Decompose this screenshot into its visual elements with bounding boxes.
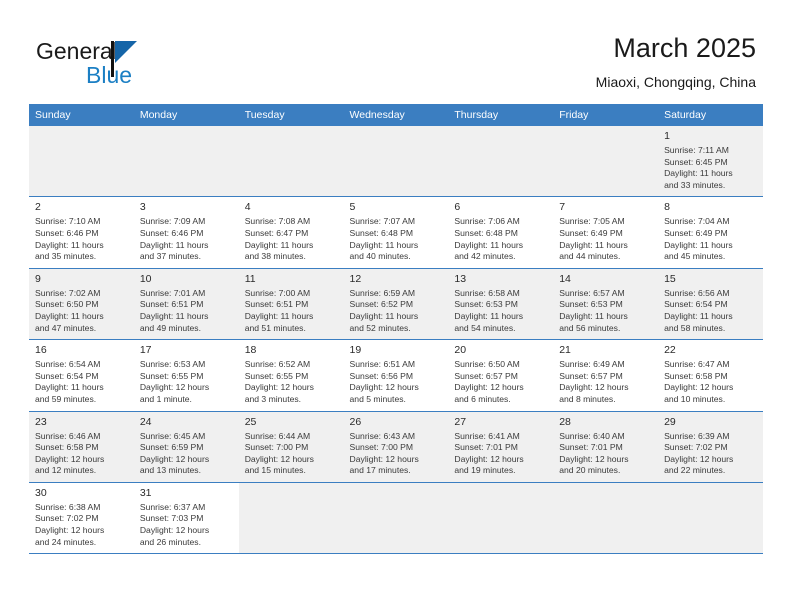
day-number: 5: [350, 201, 444, 214]
weekday-header-saturday: Saturday: [658, 104, 763, 126]
calendar-week-row: 16Sunrise: 6:54 AMSunset: 6:54 PMDayligh…: [29, 340, 763, 411]
calendar-day-cell[interactable]: 21Sunrise: 6:49 AMSunset: 6:57 PMDayligh…: [553, 340, 658, 411]
day-number: 29: [664, 416, 758, 429]
calendar-cell-empty: [448, 482, 553, 553]
day-daylight1-text: Daylight: 11 hours: [664, 240, 758, 252]
calendar-grid: Sunday Monday Tuesday Wednesday Thursday…: [29, 104, 763, 554]
day-daylight2-text: and 33 minutes.: [664, 180, 758, 192]
day-daylight1-text: Daylight: 11 hours: [35, 382, 129, 394]
day-number: 24: [140, 416, 234, 429]
day-daylight1-text: Daylight: 11 hours: [35, 311, 129, 323]
day-sunset-text: Sunset: 6:55 PM: [245, 371, 339, 383]
day-sunset-text: Sunset: 6:50 PM: [35, 299, 129, 311]
day-sunrise-text: Sunrise: 7:06 AM: [454, 216, 548, 228]
day-daylight1-text: Daylight: 12 hours: [140, 454, 234, 466]
weekday-header-monday: Monday: [134, 104, 239, 126]
day-sunset-text: Sunset: 6:48 PM: [454, 228, 548, 240]
day-sunrise-text: Sunrise: 7:08 AM: [245, 216, 339, 228]
day-daylight2-text: and 59 minutes.: [35, 394, 129, 406]
day-daylight1-text: Daylight: 11 hours: [559, 240, 653, 252]
day-daylight1-text: Daylight: 12 hours: [350, 454, 444, 466]
weekday-header-thursday: Thursday: [448, 104, 553, 126]
flag-triangle-icon: [111, 41, 137, 64]
day-sunrise-text: Sunrise: 6:49 AM: [559, 359, 653, 371]
day-sunrise-text: Sunrise: 6:47 AM: [664, 359, 758, 371]
day-daylight1-text: Daylight: 11 hours: [140, 311, 234, 323]
day-number: 6: [454, 201, 548, 214]
day-sunrise-text: Sunrise: 6:38 AM: [35, 502, 129, 514]
day-daylight2-text: and 6 minutes.: [454, 394, 548, 406]
day-sunrise-text: Sunrise: 7:05 AM: [559, 216, 653, 228]
day-sunrise-text: Sunrise: 6:52 AM: [245, 359, 339, 371]
calendar-week-row: 2Sunrise: 7:10 AMSunset: 6:46 PMDaylight…: [29, 197, 763, 268]
weekday-header-row: Sunday Monday Tuesday Wednesday Thursday…: [29, 104, 763, 126]
day-sunset-text: Sunset: 6:46 PM: [140, 228, 234, 240]
day-daylight2-text: and 47 minutes.: [35, 323, 129, 335]
day-number: 30: [35, 487, 129, 500]
day-sunset-text: Sunset: 6:51 PM: [245, 299, 339, 311]
day-sunset-text: Sunset: 6:51 PM: [140, 299, 234, 311]
calendar-day-cell[interactable]: 23Sunrise: 6:46 AMSunset: 6:58 PMDayligh…: [29, 411, 134, 482]
calendar-body: 1Sunrise: 7:11 AMSunset: 6:45 PMDaylight…: [29, 126, 763, 554]
day-sunrise-text: Sunrise: 6:40 AM: [559, 431, 653, 443]
day-sunset-text: Sunset: 6:49 PM: [664, 228, 758, 240]
day-sunset-text: Sunset: 6:47 PM: [245, 228, 339, 240]
calendar-cell-empty: [239, 126, 344, 197]
calendar-day-cell[interactable]: 12Sunrise: 6:59 AMSunset: 6:52 PMDayligh…: [344, 268, 449, 339]
day-daylight2-text: and 52 minutes.: [350, 323, 444, 335]
day-daylight2-text: and 49 minutes.: [140, 323, 234, 335]
page-header: General Blue March 2025 Miaoxi, Chongqin…: [0, 0, 792, 104]
day-sunrise-text: Sunrise: 7:09 AM: [140, 216, 234, 228]
day-number: 22: [664, 344, 758, 357]
day-daylight1-text: Daylight: 12 hours: [454, 382, 548, 394]
day-daylight2-text: and 42 minutes.: [454, 251, 548, 263]
day-sunrise-text: Sunrise: 7:01 AM: [140, 288, 234, 300]
day-number: 9: [35, 273, 129, 286]
day-sunrise-text: Sunrise: 6:53 AM: [140, 359, 234, 371]
day-number: 10: [140, 273, 234, 286]
calendar-cell-empty: [134, 126, 239, 197]
day-daylight1-text: Daylight: 12 hours: [245, 382, 339, 394]
calendar-day-cell[interactable]: 1Sunrise: 7:11 AMSunset: 6:45 PMDaylight…: [658, 126, 763, 197]
day-number: 2: [35, 201, 129, 214]
calendar-day-cell[interactable]: 4Sunrise: 7:08 AMSunset: 6:47 PMDaylight…: [239, 197, 344, 268]
day-daylight2-text: and 1 minute.: [140, 394, 234, 406]
day-sunrise-text: Sunrise: 6:54 AM: [35, 359, 129, 371]
day-daylight2-text: and 54 minutes.: [454, 323, 548, 335]
day-number: 18: [245, 344, 339, 357]
day-number: 20: [454, 344, 548, 357]
day-sunset-text: Sunset: 6:58 PM: [35, 442, 129, 454]
weekday-header-tuesday: Tuesday: [239, 104, 344, 126]
day-daylight2-text: and 22 minutes.: [664, 465, 758, 477]
day-sunset-text: Sunset: 6:53 PM: [454, 299, 548, 311]
day-daylight1-text: Daylight: 11 hours: [454, 240, 548, 252]
day-sunrise-text: Sunrise: 6:58 AM: [454, 288, 548, 300]
day-sunrise-text: Sunrise: 6:57 AM: [559, 288, 653, 300]
day-sunset-text: Sunset: 7:00 PM: [245, 442, 339, 454]
calendar-cell-empty: [553, 126, 658, 197]
day-sunrise-text: Sunrise: 6:44 AM: [245, 431, 339, 443]
day-number: 25: [245, 416, 339, 429]
day-daylight2-text: and 15 minutes.: [245, 465, 339, 477]
day-sunset-text: Sunset: 6:53 PM: [559, 299, 653, 311]
day-daylight1-text: Daylight: 11 hours: [664, 311, 758, 323]
general-blue-logo[interactable]: General Blue: [36, 38, 226, 90]
calendar-day-cell[interactable]: 24Sunrise: 6:45 AMSunset: 6:59 PMDayligh…: [134, 411, 239, 482]
day-daylight2-text: and 24 minutes.: [35, 537, 129, 549]
day-daylight1-text: Daylight: 12 hours: [664, 382, 758, 394]
day-daylight2-text: and 5 minutes.: [350, 394, 444, 406]
day-sunrise-text: Sunrise: 7:02 AM: [35, 288, 129, 300]
day-daylight1-text: Daylight: 12 hours: [140, 382, 234, 394]
day-number: 17: [140, 344, 234, 357]
calendar-week-row: 23Sunrise: 6:46 AMSunset: 6:58 PMDayligh…: [29, 411, 763, 482]
day-sunrise-text: Sunrise: 6:51 AM: [350, 359, 444, 371]
calendar-day-cell[interactable]: 26Sunrise: 6:43 AMSunset: 7:00 PMDayligh…: [344, 411, 449, 482]
logo-text-blue: Blue: [86, 62, 132, 89]
page-title: March 2025: [596, 32, 756, 64]
day-daylight1-text: Daylight: 12 hours: [140, 525, 234, 537]
day-sunset-text: Sunset: 7:02 PM: [35, 513, 129, 525]
day-sunrise-text: Sunrise: 6:41 AM: [454, 431, 548, 443]
day-number: 11: [245, 273, 339, 286]
day-number: 23: [35, 416, 129, 429]
day-sunrise-text: Sunrise: 6:59 AM: [350, 288, 444, 300]
logo-text-general: General: [36, 38, 118, 65]
day-daylight2-text: and 17 minutes.: [350, 465, 444, 477]
day-sunset-text: Sunset: 6:56 PM: [350, 371, 444, 383]
day-number: 16: [35, 344, 129, 357]
calendar-day-cell[interactable]: 30Sunrise: 6:38 AMSunset: 7:02 PMDayligh…: [29, 482, 134, 553]
day-daylight1-text: Daylight: 11 hours: [35, 240, 129, 252]
day-sunrise-text: Sunrise: 7:07 AM: [350, 216, 444, 228]
calendar-day-cell[interactable]: 31Sunrise: 6:37 AMSunset: 7:03 PMDayligh…: [134, 482, 239, 553]
calendar-cell-empty: [29, 126, 134, 197]
calendar-day-cell[interactable]: 11Sunrise: 7:00 AMSunset: 6:51 PMDayligh…: [239, 268, 344, 339]
day-daylight1-text: Daylight: 12 hours: [35, 454, 129, 466]
calendar-cell-empty: [239, 482, 344, 553]
day-sunset-text: Sunset: 6:57 PM: [454, 371, 548, 383]
weekday-header-friday: Friday: [553, 104, 658, 126]
day-daylight2-text: and 40 minutes.: [350, 251, 444, 263]
day-number: 19: [350, 344, 444, 357]
calendar-day-cell[interactable]: 8Sunrise: 7:04 AMSunset: 6:49 PMDaylight…: [658, 197, 763, 268]
day-number: 28: [559, 416, 653, 429]
day-sunset-text: Sunset: 6:58 PM: [664, 371, 758, 383]
day-sunrise-text: Sunrise: 6:45 AM: [140, 431, 234, 443]
day-sunset-text: Sunset: 6:54 PM: [664, 299, 758, 311]
day-daylight1-text: Daylight: 12 hours: [664, 454, 758, 466]
calendar-day-cell[interactable]: 16Sunrise: 6:54 AMSunset: 6:54 PMDayligh…: [29, 340, 134, 411]
day-number: 1: [664, 130, 758, 143]
day-daylight2-text: and 20 minutes.: [559, 465, 653, 477]
calendar-day-cell[interactable]: 9Sunrise: 7:02 AMSunset: 6:50 PMDaylight…: [29, 268, 134, 339]
calendar-day-cell[interactable]: 10Sunrise: 7:01 AMSunset: 6:51 PMDayligh…: [134, 268, 239, 339]
calendar-day-cell[interactable]: 7Sunrise: 7:05 AMSunset: 6:49 PMDaylight…: [553, 197, 658, 268]
day-number: 21: [559, 344, 653, 357]
calendar-day-cell[interactable]: 15Sunrise: 6:56 AMSunset: 6:54 PMDayligh…: [658, 268, 763, 339]
day-daylight2-text: and 19 minutes.: [454, 465, 548, 477]
location-subtitle: Miaoxi, Chongqing, China: [596, 72, 756, 92]
calendar-cell-empty: [448, 126, 553, 197]
day-daylight2-text: and 58 minutes.: [664, 323, 758, 335]
day-daylight1-text: Daylight: 12 hours: [350, 382, 444, 394]
calendar-cell-empty: [658, 482, 763, 553]
day-daylight2-text: and 26 minutes.: [140, 537, 234, 549]
day-sunrise-text: Sunrise: 7:00 AM: [245, 288, 339, 300]
day-sunrise-text: Sunrise: 7:10 AM: [35, 216, 129, 228]
calendar-day-cell[interactable]: 19Sunrise: 6:51 AMSunset: 6:56 PMDayligh…: [344, 340, 449, 411]
day-number: 27: [454, 416, 548, 429]
day-sunset-text: Sunset: 6:46 PM: [35, 228, 129, 240]
day-number: 15: [664, 273, 758, 286]
calendar-week-row: 1Sunrise: 7:11 AMSunset: 6:45 PMDaylight…: [29, 126, 763, 197]
calendar-day-cell[interactable]: 13Sunrise: 6:58 AMSunset: 6:53 PMDayligh…: [448, 268, 553, 339]
day-sunrise-text: Sunrise: 6:39 AM: [664, 431, 758, 443]
day-sunset-text: Sunset: 6:57 PM: [559, 371, 653, 383]
day-number: 31: [140, 487, 234, 500]
calendar-day-cell[interactable]: 3Sunrise: 7:09 AMSunset: 6:46 PMDaylight…: [134, 197, 239, 268]
day-sunset-text: Sunset: 6:59 PM: [140, 442, 234, 454]
day-sunset-text: Sunset: 7:03 PM: [140, 513, 234, 525]
calendar-day-cell[interactable]: 17Sunrise: 6:53 AMSunset: 6:55 PMDayligh…: [134, 340, 239, 411]
day-daylight2-text: and 12 minutes.: [35, 465, 129, 477]
weekday-header-sunday: Sunday: [29, 104, 134, 126]
day-sunrise-text: Sunrise: 6:56 AM: [664, 288, 758, 300]
calendar-day-cell[interactable]: 25Sunrise: 6:44 AMSunset: 7:00 PMDayligh…: [239, 411, 344, 482]
day-daylight2-text: and 38 minutes.: [245, 251, 339, 263]
day-sunset-text: Sunset: 7:01 PM: [454, 442, 548, 454]
day-sunset-text: Sunset: 7:00 PM: [350, 442, 444, 454]
day-daylight1-text: Daylight: 11 hours: [350, 311, 444, 323]
day-daylight2-text: and 13 minutes.: [140, 465, 234, 477]
calendar-cell-empty: [344, 482, 449, 553]
day-daylight1-text: Daylight: 12 hours: [559, 382, 653, 394]
day-daylight2-text: and 45 minutes.: [664, 251, 758, 263]
day-daylight2-text: and 37 minutes.: [140, 251, 234, 263]
day-daylight2-text: and 35 minutes.: [35, 251, 129, 263]
day-sunset-text: Sunset: 7:01 PM: [559, 442, 653, 454]
day-daylight1-text: Daylight: 12 hours: [245, 454, 339, 466]
day-sunset-text: Sunset: 6:49 PM: [559, 228, 653, 240]
day-sunset-text: Sunset: 6:45 PM: [664, 157, 758, 169]
calendar-page: General Blue March 2025 Miaoxi, Chongqin…: [0, 0, 792, 612]
day-number: 12: [350, 273, 444, 286]
day-daylight1-text: Daylight: 12 hours: [559, 454, 653, 466]
day-number: 14: [559, 273, 653, 286]
title-block: March 2025 Miaoxi, Chongqing, China: [596, 32, 756, 92]
day-daylight1-text: Daylight: 11 hours: [245, 240, 339, 252]
day-sunrise-text: Sunrise: 6:37 AM: [140, 502, 234, 514]
calendar-cell-empty: [344, 126, 449, 197]
calendar-cell-empty: [553, 482, 658, 553]
day-daylight2-text: and 51 minutes.: [245, 323, 339, 335]
day-number: 13: [454, 273, 548, 286]
day-number: 8: [664, 201, 758, 214]
day-number: 26: [350, 416, 444, 429]
day-sunrise-text: Sunrise: 6:43 AM: [350, 431, 444, 443]
day-daylight1-text: Daylight: 11 hours: [350, 240, 444, 252]
day-sunrise-text: Sunrise: 7:04 AM: [664, 216, 758, 228]
day-sunset-text: Sunset: 6:48 PM: [350, 228, 444, 240]
day-sunset-text: Sunset: 6:55 PM: [140, 371, 234, 383]
day-daylight1-text: Daylight: 11 hours: [664, 168, 758, 180]
calendar-week-row: 9Sunrise: 7:02 AMSunset: 6:50 PMDaylight…: [29, 268, 763, 339]
day-daylight2-text: and 56 minutes.: [559, 323, 653, 335]
day-daylight2-text: and 3 minutes.: [245, 394, 339, 406]
day-daylight1-text: Daylight: 11 hours: [559, 311, 653, 323]
day-daylight1-text: Daylight: 11 hours: [245, 311, 339, 323]
day-daylight1-text: Daylight: 11 hours: [454, 311, 548, 323]
calendar-day-cell[interactable]: 29Sunrise: 6:39 AMSunset: 7:02 PMDayligh…: [658, 411, 763, 482]
weekday-header-wednesday: Wednesday: [344, 104, 449, 126]
day-daylight2-text: and 10 minutes.: [664, 394, 758, 406]
calendar-day-cell[interactable]: 22Sunrise: 6:47 AMSunset: 6:58 PMDayligh…: [658, 340, 763, 411]
calendar-day-cell[interactable]: 6Sunrise: 7:06 AMSunset: 6:48 PMDaylight…: [448, 197, 553, 268]
day-daylight1-text: Daylight: 11 hours: [140, 240, 234, 252]
calendar-day-cell[interactable]: 28Sunrise: 6:40 AMSunset: 7:01 PMDayligh…: [553, 411, 658, 482]
calendar-day-cell[interactable]: 27Sunrise: 6:41 AMSunset: 7:01 PMDayligh…: [448, 411, 553, 482]
day-daylight1-text: Daylight: 12 hours: [35, 525, 129, 537]
calendar-day-cell[interactable]: 18Sunrise: 6:52 AMSunset: 6:55 PMDayligh…: [239, 340, 344, 411]
day-daylight2-text: and 44 minutes.: [559, 251, 653, 263]
day-daylight2-text: and 8 minutes.: [559, 394, 653, 406]
day-daylight1-text: Daylight: 12 hours: [454, 454, 548, 466]
day-sunrise-text: Sunrise: 7:11 AM: [664, 145, 758, 157]
calendar-day-cell[interactable]: 2Sunrise: 7:10 AMSunset: 6:46 PMDaylight…: [29, 197, 134, 268]
day-sunset-text: Sunset: 7:02 PM: [664, 442, 758, 454]
day-sunset-text: Sunset: 6:54 PM: [35, 371, 129, 383]
day-number: 4: [245, 201, 339, 214]
day-sunrise-text: Sunrise: 6:46 AM: [35, 431, 129, 443]
calendar-day-cell[interactable]: 5Sunrise: 7:07 AMSunset: 6:48 PMDaylight…: [344, 197, 449, 268]
calendar-day-cell[interactable]: 20Sunrise: 6:50 AMSunset: 6:57 PMDayligh…: [448, 340, 553, 411]
day-number: 3: [140, 201, 234, 214]
day-sunset-text: Sunset: 6:52 PM: [350, 299, 444, 311]
day-number: 7: [559, 201, 653, 214]
calendar-day-cell[interactable]: 14Sunrise: 6:57 AMSunset: 6:53 PMDayligh…: [553, 268, 658, 339]
day-sunrise-text: Sunrise: 6:50 AM: [454, 359, 548, 371]
calendar-week-row: 30Sunrise: 6:38 AMSunset: 7:02 PMDayligh…: [29, 482, 763, 553]
